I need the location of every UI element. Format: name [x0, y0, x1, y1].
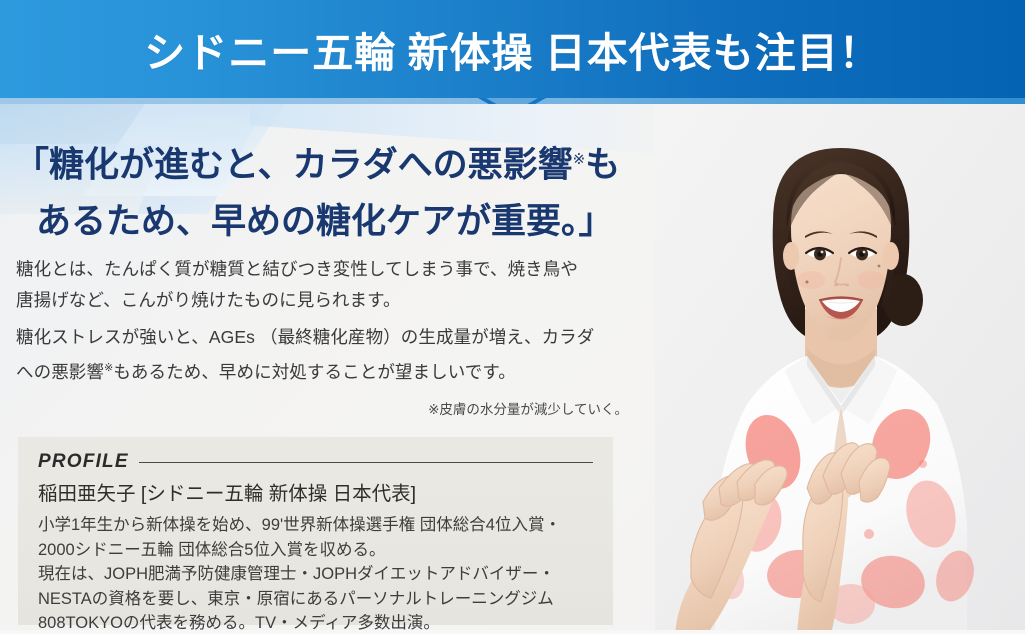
body-paragraph-1: 糖化とは、たんぱく質が糖質と結びつき変性してしまう事で、焼き鳥や 唐揚げなど、こ…: [16, 254, 646, 316]
spokesperson-portrait: [655, 104, 1025, 634]
body-paragraph-1-line-1: 糖化とは、たんぱく質が糖質と結びつき変性してしまう事で、焼き鳥や: [16, 254, 646, 285]
footnote-text: ※皮膚の水分量が減少していく。: [16, 398, 628, 418]
body-paragraph-1-line-2: 唐揚げなど、こんがり焼けたものに見られます。: [16, 285, 646, 316]
header-banner: シドニー五輪 新体操 日本代表も注目！: [0, 0, 1025, 98]
footnote-marker-body: ※: [104, 362, 113, 374]
profile-bio-line: 現在は、JOPH肥満予防健康管理士・JOPHダイエットアドバイザー・: [38, 562, 593, 587]
pull-quote: 「糖化が進むと、カラダへの悪影響※も あるため、早めの糖化ケアが重要。」: [14, 132, 654, 250]
body-paragraph-2-line-1: 糖化ストレスが強いと、AGEs （最終糖化産物）の生成量が増え、カラダ: [16, 322, 646, 353]
profile-header-rule: [139, 462, 593, 463]
bottom-divider: [0, 630, 1025, 634]
profile-header: PROFILE: [38, 451, 593, 473]
body-paragraph-2-line-2-text: への悪影響: [16, 362, 104, 382]
portrait-illustration: [655, 104, 1025, 634]
body-paragraph-2: 糖化ストレスが強いと、AGEs （最終糖化産物）の生成量が増え、カラダ への悪影…: [16, 322, 646, 388]
advertisement-page: シドニー五輪 新体操 日本代表も注目！ 「糖化が進むと、カラダへの悪影響※も あ…: [0, 0, 1025, 634]
pull-quote-line-2: あるため、早めの糖化ケアが重要。」: [14, 194, 654, 250]
profile-bio-line: NESTAの資格を要し、東京・原宿にあるパーソナルトレーニングジム: [38, 587, 593, 612]
body-paragraph-2-line-2: への悪影響※もあるため、早めに対処することが望ましいです。: [16, 353, 646, 388]
pull-quote-line-1-suffix: も: [585, 146, 620, 185]
body-paragraph-2-line-2-suffix: もあるため、早めに対処することが望ましいです。: [113, 362, 516, 382]
profile-label: PROFILE: [38, 451, 129, 473]
profile-box: PROFILE 稲田亜矢子 [シドニー五輪 新体操 日本代表] 小学1年生から新…: [18, 437, 613, 625]
footnote-marker-quote: ※: [573, 152, 586, 168]
profile-name: 稲田亜矢子 [シドニー五輪 新体操 日本代表]: [38, 479, 593, 509]
pull-quote-line-1: 「糖化が進むと、カラダへの悪影響※も: [14, 132, 654, 194]
profile-bio-line: 小学1年生から新体操を始め、99'世界新体操選手権 団体総合4位入賞・: [38, 513, 593, 538]
header-title: シドニー五輪 新体操 日本代表も注目！: [0, 0, 1025, 98]
profile-bio-line: 2000シドニー五輪 団体総合5位入賞を収める。: [38, 538, 593, 563]
pull-quote-line-1-text: 「糖化が進むと、カラダへの悪影響: [14, 146, 573, 185]
